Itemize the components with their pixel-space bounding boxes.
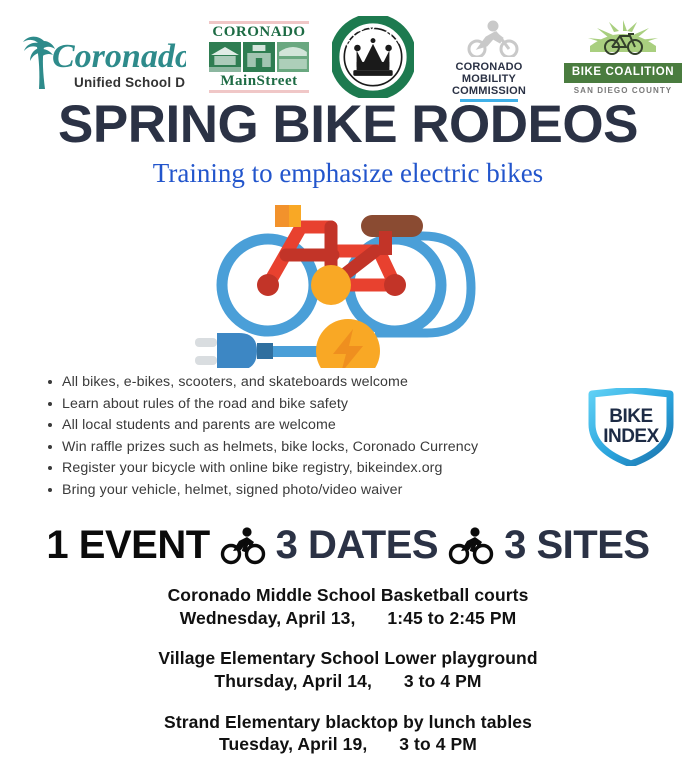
- crank-chainring: [311, 265, 351, 305]
- cmc-accent-underline: [460, 99, 518, 102]
- plug-prong-top: [195, 338, 217, 347]
- city-seal-graphic: CITY OF CORONADO: [332, 16, 414, 98]
- cyclist-silhouette-icon: [437, 19, 541, 57]
- bike-index-badge: BIKE INDEX: [586, 388, 682, 471]
- bike-index-shield-icon: BIKE INDEX: [586, 388, 676, 466]
- rear-hub: [257, 274, 279, 296]
- plug-collar: [257, 343, 273, 359]
- sponsor-logo-strip: Coronado Unified School District CORONAD…: [0, 0, 696, 92]
- panel-building-2: [243, 42, 275, 72]
- banner-part-1: 1 EVENT: [46, 523, 209, 568]
- building-icon-3: [277, 42, 309, 72]
- event-entry: Village Elementary School Lower playgrou…: [0, 647, 696, 693]
- logo-coronado-mobility-commission: CORONADO MOBILITY COMMISSION: [437, 19, 541, 95]
- list-item: All local students and parents are welco…: [46, 415, 586, 437]
- building-icon-2: [243, 42, 275, 72]
- handlebar-grip-shade: [275, 205, 289, 227]
- logo-city-of-coronado: CITY OF CORONADO: [332, 16, 414, 98]
- page-title: SPRING BIKE RODEOS: [0, 98, 696, 151]
- logo-coronado-mainstreet: CORONADO: [209, 21, 309, 93]
- sunburst-bicycle-icon: [564, 18, 682, 58]
- banner-part-3: 3 SITES: [504, 523, 649, 568]
- event-entry: Coronado Middle School Basketball courts…: [0, 584, 696, 630]
- mainstreet-line2: MainStreet: [209, 74, 309, 89]
- list-item: All bikes, e-bikes, scooters, and skateb…: [46, 372, 586, 394]
- cmc-line2: MOBILITY: [437, 74, 541, 86]
- event-schedule: Coronado Middle School Basketball courts…: [0, 584, 696, 756]
- cusd-logo-graphic: Coronado Unified School District: [14, 21, 186, 93]
- event-time: 3 to 4 PM: [404, 671, 482, 691]
- logo-bike-coalition-san-diego: BIKE COALITION SAN DIEGO COUNTY: [564, 18, 682, 96]
- banner-part-2: 3 DATES: [276, 523, 438, 568]
- logo-coronado-unified-school-district: Coronado Unified School District: [14, 21, 186, 93]
- mainstreet-rule-bottom: [209, 90, 309, 93]
- svg-text:Unified School District: Unified School District: [74, 75, 186, 90]
- bike-coalition-bar: BIKE COALITION: [564, 63, 682, 83]
- event-location: Strand Elementary blacktop by lunch tabl…: [0, 711, 696, 733]
- svg-text:Coronado: Coronado: [52, 38, 186, 75]
- list-item: Win raffle prizes such as helmets, bike …: [46, 437, 586, 459]
- cmc-line3: COMMISSION: [437, 86, 541, 98]
- bike-index-line2: INDEX: [603, 426, 659, 447]
- cmc-text-block: CORONADO MOBILITY COMMISSION: [437, 62, 541, 98]
- panel-building-3: [277, 42, 309, 72]
- mainstreet-line1: CORONADO: [209, 25, 309, 40]
- mainstreet-line2-text: MainStreet: [220, 73, 297, 89]
- event-time: 3 to 4 PM: [399, 734, 477, 754]
- event-location: Coronado Middle School Basketball courts: [0, 584, 696, 606]
- list-item: Learn about rules of the road and bike s…: [46, 394, 586, 416]
- building-icon-1: [209, 42, 241, 72]
- details-row: All bikes, e-bikes, scooters, and skateb…: [0, 372, 696, 501]
- plug-cable: [273, 346, 319, 357]
- info-bullet-list: All bikes, e-bikes, scooters, and skateb…: [46, 372, 586, 501]
- seat-post: [379, 231, 392, 255]
- mainstreet-building-panels: [209, 42, 309, 72]
- electric-bicycle-icon: [183, 193, 513, 368]
- cyclist-icon: [220, 527, 266, 565]
- event-time: 1:45 to 2:45 PM: [387, 608, 516, 628]
- electric-bike-illustration-wrap: [0, 193, 696, 368]
- event-datetime: Wednesday, April 13, 1:45 to 2:45 PM: [0, 607, 696, 631]
- cyclist-icon: [448, 527, 494, 565]
- event-summary-banner: 1 EVENT 3 DATES 3 SITES: [0, 523, 696, 568]
- event-location: Village Elementary School Lower playgrou…: [0, 647, 696, 669]
- event-day: Thursday, April 14,: [214, 671, 372, 691]
- event-datetime: Tuesday, April 19, 3 to 4 PM: [0, 733, 696, 757]
- bike-coalition-subtitle: SAN DIEGO COUNTY: [564, 86, 682, 95]
- plug-body: [217, 333, 257, 368]
- page-subtitle: Training to emphasize electric bikes: [0, 160, 696, 187]
- event-entry: Strand Elementary blacktop by lunch tabl…: [0, 711, 696, 757]
- event-day: Tuesday, April 19,: [219, 734, 367, 754]
- list-item: Register your bicycle with online bike r…: [46, 458, 586, 480]
- panel-building-1: [209, 42, 241, 72]
- bike-index-line1: BIKE: [609, 406, 652, 427]
- front-hub: [384, 274, 406, 296]
- power-plug-icon: [195, 333, 319, 368]
- event-day: Wednesday, April 13,: [180, 608, 356, 628]
- list-item: Bring your vehicle, helmet, signed photo…: [46, 480, 586, 502]
- event-datetime: Thursday, April 14, 3 to 4 PM: [0, 670, 696, 694]
- plug-prong-bottom: [195, 356, 217, 365]
